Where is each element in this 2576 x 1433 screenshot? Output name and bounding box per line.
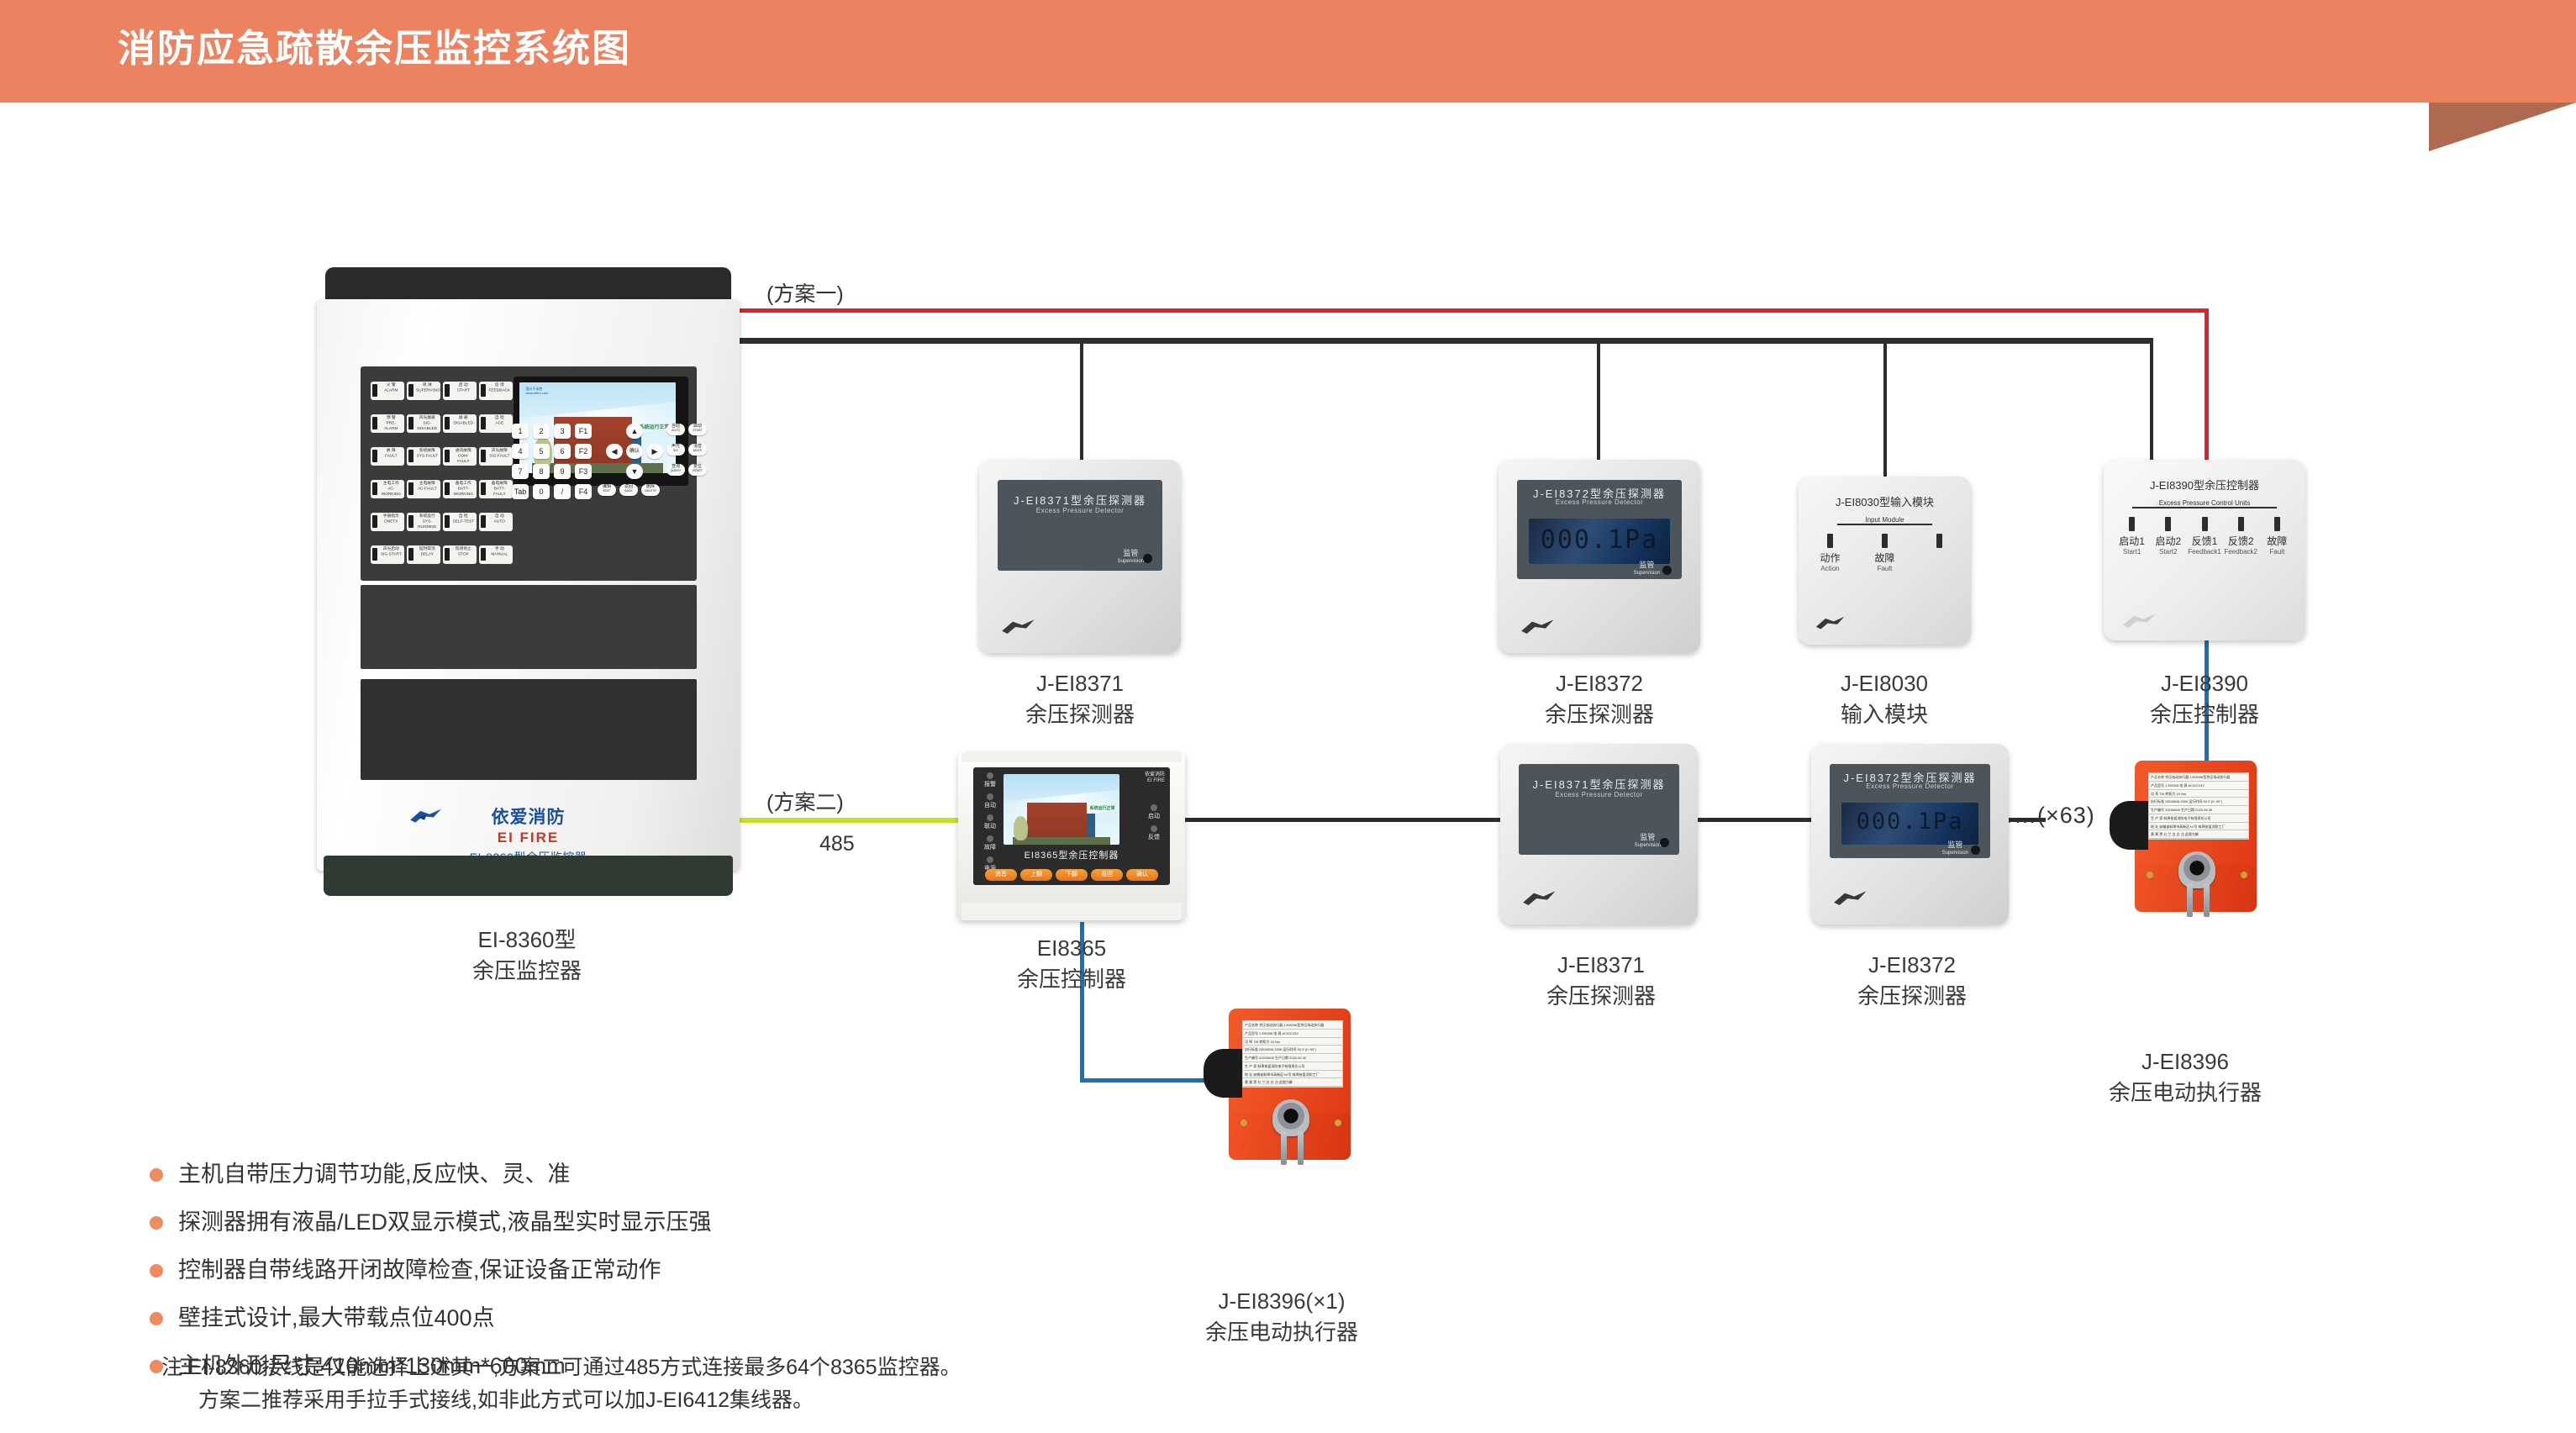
indicator-lamp-label: 启 动START (452, 382, 475, 393)
supervision-led-icon (1143, 554, 1152, 563)
controller-screen[interactable]: 系统运行正常 (1004, 774, 1119, 845)
spec-label-row: 地 址 安徽省蚌埠市高新区XX号 蚌埠依爱消防工厂 (2149, 823, 2248, 831)
led-bar-icon (1827, 534, 1833, 548)
key-5[interactable]: 5 (533, 444, 550, 459)
indicator-lamp-label: 系统故障SYS-FAULT (416, 448, 439, 459)
status-led-反馈: 反馈 (1141, 825, 1167, 841)
controller-faceplate: 报警自动联动故障电源 启动反馈 系统运行正常 依爱消防 EI FIRE EI83… (973, 767, 1170, 885)
device-ei8365-controller[interactable]: 报警自动联动故障电源 启动反馈 系统运行正常 依爱消防 EI FIRE EI83… (958, 752, 1185, 920)
caption-name: 余压控制器 (2070, 699, 2339, 730)
key-2[interactable]: 2 (533, 424, 550, 439)
indicator-lamp: 延时取消DELAY (407, 545, 440, 564)
caption-model: J-EI8371 (1557, 952, 1645, 977)
device-faceplate: J-EI8390型余压控制器 Excess Pressure Control U… (2114, 473, 2295, 608)
actuator-prong (2187, 883, 2193, 917)
led-indicator: 启动1Start1 (2114, 517, 2150, 556)
indicator-lamp: 自 动AUTO (479, 513, 513, 531)
led-row: 动作Action故障Fault (1809, 534, 1961, 573)
supervision-led-icon (1660, 838, 1669, 847)
indicator-lamp: 喷 淋SUPERVISION (407, 382, 440, 400)
led-label-en: Action (1809, 564, 1852, 573)
func-key-mute[interactable]: 消音MUTE (688, 444, 707, 456)
spec-label-row: 功 率 7W 转矩力 15 Nm (1243, 1038, 1342, 1046)
indicator-lamp-label: 声光启动SIG-START (380, 546, 403, 557)
led-label: 报警 (978, 780, 1002, 788)
led-indicator: 反馈1Feedback1 (2186, 517, 2222, 556)
plan-two-label: (方案二) (766, 786, 844, 816)
device-det-8372-top[interactable]: J-EI8372型余压探测器 Excess Pressure Detector … (1499, 460, 1700, 653)
indicator-lamp: 屏 蔽DISABLED (443, 414, 477, 433)
spec-label-row: 产品名称 余压电动执行器 J-EI8396型余压电动执行器 (1243, 1021, 1342, 1030)
banner-fold-triangle (2429, 103, 2576, 151)
wire-plan2-green-485 (738, 818, 965, 823)
actuator-spec-label: 产品名称 余压电动执行器 J-EI8396型余压电动执行器产品型号 J-EI83… (1242, 1020, 1343, 1088)
supervision-led-icon (1662, 566, 1672, 575)
func-key-reset[interactable]: 复位RESET (688, 464, 707, 476)
main-cabinet-ei8360[interactable]: 火 警ALARM喷 淋SUPERVISION启 动START反 馈FEEDBAC… (317, 267, 740, 898)
actuator-prong (1281, 1131, 1287, 1165)
ei-logo-icon (1831, 888, 1872, 909)
device-faceplate: J-EI8030型输入模块 Input Module 动作Action故障Fau… (1809, 490, 1961, 616)
caption-det-8371-bottom: J-EI8371 余压探测器 (1467, 950, 1736, 1012)
banner-tail (2481, 0, 2576, 103)
device-subtitle: Excess Pressure Detector (1830, 782, 1990, 790)
status-leds-right: 启动反馈 (1141, 804, 1167, 846)
func-key-auto[interactable]: 自动AUTO (666, 424, 685, 435)
led-bar-icon (2238, 517, 2244, 531)
device-title: J-EI8371型余压探测器 (1519, 776, 1679, 792)
device-title: J-EI8030型输入模块 (1809, 493, 1961, 509)
controller-button-row[interactable]: 消音上翻下翻返回确认 (985, 869, 1158, 881)
indicator-lamp-label: 火 警ALARM (380, 382, 403, 393)
nav-down-key[interactable]: ▼ (626, 464, 643, 479)
bus-485-label: 485 (819, 832, 855, 856)
device-input-module-8030[interactable]: J-EI8030型输入模块 Input Module 动作Action故障Fau… (1799, 477, 1971, 645)
spec-label-row: 产品名称 余压电动执行器 J-EI8396型余压电动执行器 (2149, 773, 2248, 782)
wire-drop-input-module (1883, 341, 1887, 477)
indicator-lamp-label: 屏 蔽DISABLED (452, 415, 475, 426)
key-tab[interactable]: Tab (512, 484, 529, 499)
actuator-prong (1298, 1131, 1304, 1165)
spec-label-row: 地 址 安徽省蚌埠市高新区XX号 蚌埠依爱消防工厂 (1243, 1071, 1342, 1079)
spec-label-row: 执行标准 GB16806-2006 运行时间 50 S (0~90°) (2149, 798, 2248, 806)
spec-label-row: 生产编号 20200606 生产日期 2020.06.30 (1243, 1054, 1342, 1062)
feature-bullet: 主机自带压力调节功能,反应快、灵、准 (143, 1160, 1151, 1188)
key-/[interactable]: / (554, 484, 571, 499)
caption-actuator-right: J-EI8396 余压电动执行器 (2063, 1046, 2307, 1109)
caption-model: J-EI8372 (1556, 671, 1643, 696)
spec-label-row: 黄 黄 黑 红 兰 白 白 注:此图为解 (1243, 1078, 1342, 1087)
feature-bullet: 壁挂式设计,最大带载点位400点 (143, 1304, 1151, 1332)
indicator-lamp-label: 自 动AUTO (488, 514, 511, 524)
brand-name-cn: 依爱消防 (317, 803, 740, 829)
caption-det-8372-bottom: J-EI8372 余压探测器 (1778, 950, 2047, 1012)
indicator-lamp-grid: 火 警ALARM喷 淋SUPERVISION启 动START反 馈FEEDBAC… (371, 377, 515, 572)
caption-ei8365: EI8365 余压控制器 (946, 933, 1198, 995)
caption-name: 余压探测器 (946, 699, 1214, 730)
status-leds-left: 报警自动联动故障电源 (978, 772, 1002, 877)
spec-label-row: 生 产 家 蚌埠依爱消防电子有限责任公司 (1243, 1062, 1342, 1071)
keypad[interactable]: 123F1456F2789F3Tab0/F4▲◀确认▶▼自动AUTO启动STAR… (512, 424, 646, 504)
wire-plan1-red-horizontal (738, 308, 2209, 313)
supervision-led-icon (1971, 846, 1980, 855)
indicator-lamp-label: 主电工作AC-WORKING (380, 481, 403, 498)
nav-up-key[interactable]: ▲ (626, 424, 643, 439)
cabinet-foot (324, 856, 733, 896)
indicator-lamp: 预 警PRE-ALARM (371, 414, 404, 433)
device-subtitle: Excess Pressure Detector (1517, 498, 1682, 506)
led-dot-icon (1151, 804, 1157, 811)
edit-key-delete[interactable]: 删除DELETE (641, 484, 660, 496)
indicator-lamp-label: 声光故障SIG-FAULT (488, 448, 511, 459)
ei-logo-icon (1520, 888, 1561, 909)
key-f1[interactable]: F1 (575, 424, 592, 439)
wire-drop-det8372-top (1597, 341, 1600, 460)
wire-bus-top-horizontal (733, 338, 2153, 344)
indicator-lamp: 备电工作BATT-WORKING (443, 480, 477, 498)
device-faceplate: J-EI8372型余压探测器 Excess Pressure Detector … (1517, 480, 1682, 579)
led-label-cn: 反馈2 (2223, 535, 2259, 547)
led-label-en: Start1 (2114, 547, 2150, 556)
actuator-spec-label: 产品名称 余压电动执行器 J-EI8396型余压电动执行器产品型号 J-EI83… (2148, 772, 2249, 840)
device-title: J-EI8390型余压控制器 (2114, 477, 2295, 493)
indicator-lamp: 自 检SELF-TEST (443, 513, 477, 531)
led-indicator: 故障Fault (1863, 534, 1906, 573)
wire-blue-ei8365-actuator-horizontal (1080, 1078, 1223, 1083)
mount-ear-bottom (961, 904, 1182, 920)
key-8[interactable]: 8 (533, 464, 550, 479)
func-key-query[interactable]: 查询QUERY (666, 464, 685, 476)
ei-logo-icon (999, 616, 1040, 638)
key-3[interactable]: 3 (554, 424, 571, 439)
indicator-lamp: 自 检ACE (479, 414, 513, 433)
controller-button-下翻[interactable]: 下翻 (1056, 869, 1088, 881)
cabinet-body: 火 警ALARM喷 淋SUPERVISION启 动START反 馈FEEDBAC… (317, 299, 740, 871)
key-7[interactable]: 7 (512, 464, 529, 479)
screen-ground (1013, 837, 1110, 845)
led-label: 自动 (978, 801, 1002, 809)
controller-button-消音[interactable]: 消音 (985, 869, 1017, 881)
spec-label-row: 黄 黄 黑 红 兰 白 白 注:此图为解 (2149, 830, 2248, 839)
led-label: 联动 (978, 822, 1002, 830)
ei-fire-logo-icon (408, 805, 446, 827)
led-bar-icon (1882, 534, 1888, 548)
cabinet-door[interactable] (361, 679, 697, 780)
actuator-coupler (1272, 1099, 1309, 1136)
wire-drop-det8371-top (1080, 341, 1083, 460)
brand-name-cn: 依爱消防 (1145, 772, 1165, 778)
screen-tree (1014, 816, 1028, 840)
device-controller-8390[interactable]: J-EI8390型余压控制器 Excess Pressure Control U… (2104, 460, 2305, 640)
indicator-lamp: 手 动MANUAL (479, 545, 513, 564)
device-subtitle: Excess Pressure Detector (1519, 791, 1679, 798)
led-label-en: Start2 (2150, 547, 2186, 556)
screw-icon (1241, 1120, 1247, 1126)
indicator-lamp-label: 预 警PRE-ALARM (380, 415, 403, 432)
led-label-cn: 反馈1 (2186, 535, 2222, 547)
status-led-报警: 报警 (978, 772, 1002, 788)
spec-label-row: 执行标准 GB16806-2006 运行时间 50 S (0~90°) (1243, 1046, 1342, 1054)
led-indicator: 故障Fault (2259, 517, 2295, 556)
led-indicator (1918, 534, 1961, 573)
screw-icon (2241, 872, 2247, 878)
indicator-lamp-label: 反 馈FEEDBACK (488, 382, 511, 393)
caption-model: J-EI8371 (1036, 671, 1124, 696)
indicator-lamp: 通讯故障COM-FAULT (443, 447, 477, 466)
caption-det-8371-top: J-EI8371 余压探测器 (946, 668, 1214, 730)
device-actuator-right[interactable]: 产品名称 余压电动执行器 J-EI8396型余压电动执行器产品型号 J-EI83… (2110, 761, 2257, 912)
indicator-lamp: 系统运行SYS-RUNNING (407, 513, 440, 531)
nav-right-key[interactable]: ▶ (646, 444, 663, 459)
led-dot-icon (987, 835, 993, 842)
footnote-line-2: 方案二推荐采用手拉手式接线,如非此方式可以加J-EI6412集线器。 (161, 1384, 961, 1417)
controller-model-text: EI8365型余压控制器 (973, 848, 1170, 861)
led-label: 启动 (1141, 812, 1167, 820)
caption-name: 输入模块 (1750, 699, 2019, 730)
supervision-label: 监管 Supervision (1635, 833, 1661, 850)
brand-name-en: EI FIRE (1145, 778, 1165, 784)
actuator-coupler (2178, 851, 2215, 888)
indicator-lamp-label: 系统运行SYS-RUNNING (416, 514, 439, 530)
indicator-lamp: 主电工作AC-WORKING (371, 480, 404, 498)
led-label-cn: 启动2 (2150, 535, 2186, 547)
led-bar-icon (2165, 517, 2171, 531)
indicator-lamp-label: 自 检ACE (488, 415, 511, 426)
func-key-sig[interactable]: 声光SIG (666, 444, 685, 456)
indicator-lamp: 声光屏蔽SIG-DISABLED (407, 414, 440, 433)
led-bar-icon (2202, 517, 2208, 531)
spec-label-row: 产品型号 J-EI8396 电 源 AC/DC24V (1243, 1030, 1342, 1038)
key-f2[interactable]: F2 (575, 444, 592, 459)
status-led-启动: 启动 (1141, 804, 1167, 820)
indicator-lamp-label: 现场停止STOP (452, 546, 475, 557)
led-label-cn: 动作 (1809, 552, 1852, 564)
led-bar-icon (2129, 517, 2135, 531)
screen-status-text: 系统运行正常 (1089, 805, 1114, 811)
indicator-lamp: 声光启动SIG-START (371, 545, 404, 564)
title-rule (1837, 524, 1932, 525)
spec-label-row: 生产编号 20200606 生产日期 2020.06.30 (2149, 806, 2248, 814)
device-subtitle: Input Module (1809, 516, 1961, 524)
caption-actuator-lower: J-EI8396(×1) 余压电动执行器 (1160, 1286, 1404, 1348)
controller-button-确认[interactable]: 确认 (1126, 869, 1158, 881)
indicator-lamp: 备电故障BATT-FAULT (479, 480, 513, 498)
key-9[interactable]: 9 (554, 464, 571, 479)
indicator-lamp-label: 备电工作BATT-WORKING (452, 481, 475, 498)
device-det-8371-bottom[interactable]: J-EI8371型余压探测器 Excess Pressure Detector … (1500, 744, 1698, 925)
led-label-en: Feedback1 (2186, 547, 2222, 556)
led-bar-icon (2274, 517, 2280, 531)
controller-button-上翻[interactable]: 上翻 (1020, 869, 1052, 881)
indicator-lamp-label: 主电故障AC-FAULT (416, 481, 439, 492)
led-label-en: Feedback2 (2223, 547, 2259, 556)
wire-drop-controller8390 (2150, 341, 2153, 460)
caption-name: 余压探测器 (1778, 981, 2047, 1012)
status-led-联动: 联动 (978, 814, 1002, 830)
title-rule (2132, 507, 2277, 508)
led-label-en: Fault (1863, 564, 1906, 573)
page-title: 消防应急疏散余压监控系统图 (118, 24, 631, 74)
caption-controller-8390: J-EI8390 余压控制器 (2070, 668, 2339, 730)
header-banner: 消防应急疏散余压监控系统图 (0, 0, 2481, 103)
device-det-8372-bottom[interactable]: J-EI8372型余压探测器 Excess Pressure Detector … (1811, 744, 2009, 925)
caption-det-8372-top: J-EI8372 余压探测器 (1465, 668, 1734, 730)
lcd-pressure-value: 000.1Pa (1529, 525, 1670, 555)
key-1[interactable]: 1 (512, 424, 529, 439)
status-led-自动: 自动 (978, 793, 1002, 809)
led-dot-icon (987, 772, 993, 779)
nav-left-key[interactable]: ◀ (606, 444, 623, 459)
feature-bullet: 探测器拥有液晶/LED双显示模式,液晶型实时显示压强 (143, 1208, 1151, 1236)
led-label-en: Fault (2259, 547, 2295, 556)
led-row: 启动1Start1启动2Start2反馈1Feedback1反馈2Feedbac… (2114, 517, 2295, 556)
indicator-lamp: 手册指示ONETX (371, 513, 404, 531)
indicator-lamp-label: 备电故障BATT-FAULT (488, 481, 511, 498)
wire-plan1-red-vertical (2205, 308, 2209, 460)
actuator-shaft-collar (2110, 801, 2148, 850)
footnote-line-1: 注:EI-8360接线是仅能选择上述其一,方案二可通过485方式连接最多64个8… (161, 1356, 961, 1379)
indicator-lamp: 启 动START (443, 382, 477, 400)
led-indicator: 反馈2Feedback2 (2223, 517, 2259, 556)
controller-branding: 依爱消防 EI FIRE (1145, 772, 1165, 784)
indicator-lamp-label: 声光屏蔽SIG-DISABLED (416, 415, 439, 432)
indicator-lamp: 主电故障AC-FAULT (407, 480, 440, 498)
ei-logo-icon (2120, 610, 2161, 632)
led-label-cn: 启动1 (2114, 535, 2150, 547)
nav-enter-key[interactable]: 确认 (626, 444, 643, 459)
led-label: 反馈 (1141, 833, 1167, 841)
footnote: 注:EI-8360接线是仅能选择上述其一,方案二可通过485方式连接最多64个8… (161, 1351, 961, 1417)
indicator-lamp: 火 警ALARM (371, 382, 404, 400)
caption-model: EI8365 (1037, 935, 1106, 961)
edit-key-edit[interactable]: 编辑EDIT (598, 484, 616, 496)
led-indicator: 动作Action (1809, 534, 1852, 573)
indicator-lamp-label: 延时取消DELAY (416, 546, 439, 557)
indicator-lamp-label: 手册指示ONETX (380, 514, 403, 524)
caption-name: 余压探测器 (1465, 699, 1734, 730)
caption-model: J-EI8396 (2141, 1049, 2229, 1074)
ei-logo-icon (1814, 614, 1849, 633)
led-indicator: 启动2Start2 (2150, 517, 2186, 556)
actuator-shaft-collar (1204, 1049, 1242, 1098)
caption-name: 余压控制器 (946, 964, 1198, 995)
controller-button-返回[interactable]: 返回 (1091, 869, 1123, 881)
led-label-cn: 故障 (2259, 535, 2295, 547)
brand-name-en: EI FIRE (317, 830, 740, 846)
indicator-lamp-label: 喷 淋SUPERVISION (416, 382, 439, 393)
lcd-display: 000.1Pa (1841, 803, 1978, 845)
device-subtitle: Excess Pressure Detector (998, 507, 1162, 514)
screw-icon (2147, 872, 2153, 878)
edit-key-back[interactable]: 返回BACK (619, 484, 638, 496)
indicator-lamp-label: 故 障FAULT (380, 448, 403, 459)
device-det-8371-top[interactable]: J-EI8371型余压探测器 Excess Pressure Detector … (979, 460, 1181, 653)
led-dot-icon (987, 793, 993, 800)
cabinet-lower-bezel (361, 585, 697, 669)
device-actuator-lower[interactable]: 产品名称 余压电动执行器 J-EI8396型余压电动执行器产品型号 J-EI83… (1204, 1009, 1351, 1160)
led-dot-icon (1151, 825, 1157, 832)
indicator-lamp-label: 自 检SELF-TEST (452, 514, 475, 524)
led-bar-icon (1936, 534, 1942, 548)
spec-label-row: 产品型号 J-EI8396 电 源 AC/DC24V (2149, 782, 2248, 790)
key-4[interactable]: 4 (512, 444, 529, 459)
caption-model: J-EI8390 (2161, 671, 2248, 696)
caption-model: J-EI8396(×1) (1218, 1288, 1345, 1314)
indicator-lamp: 反 馈FEEDBACK (479, 382, 513, 400)
caption-input-module: J-EI8030 输入模块 (1750, 668, 2019, 730)
indicator-lamp-label: 手 动MANUAL (488, 546, 511, 557)
caption-name: 余压探测器 (1467, 981, 1736, 1012)
led-label-cn: 故障 (1863, 552, 1906, 564)
screw-icon (1335, 1120, 1341, 1126)
device-title: J-EI8371型余压探测器 (998, 492, 1162, 508)
caption-name: 余压监控器 (359, 956, 695, 987)
supervision-label: 监管 Supervision (1942, 840, 1968, 857)
indicator-lamp: 系统故障SYS-FAULT (407, 447, 440, 466)
key-f3[interactable]: F3 (575, 464, 592, 479)
lcd-pressure-value: 000.1Pa (1841, 809, 1978, 835)
supervision-label: 监管 Supervision (1634, 561, 1660, 577)
ei-logo-icon (1519, 616, 1559, 638)
key-0[interactable]: 0 (533, 484, 550, 499)
lcd-display: 000.1Pa (1529, 519, 1670, 564)
caption-main-cabinet: EI-8360型 余压监控器 (359, 925, 695, 987)
supervision-label: 监管 Supervision (1118, 549, 1144, 566)
caption-name: 余压电动执行器 (1160, 1317, 1404, 1348)
caption-model: J-EI8372 (1868, 952, 1956, 977)
key-f4[interactable]: F4 (575, 484, 592, 499)
spec-label-row: 功 率 7W 转矩力 15 Nm (2149, 790, 2248, 798)
spec-label-row: 生 产 家 蚌埠依爱消防电子有限责任公司 (2149, 814, 2248, 823)
indicator-lamp: 声光故障SIG-FAULT (479, 447, 513, 466)
indicator-lamp: 现场停止STOP (443, 545, 477, 564)
device-faceplate: J-EI8371型余压探测器 Excess Pressure Detector … (1519, 764, 1679, 855)
actuator-prong (2204, 883, 2210, 917)
plan-one-label: (方案一) (766, 277, 844, 308)
device-faceplate: J-EI8372型余压探测器 Excess Pressure Detector … (1830, 764, 1990, 858)
key-6[interactable]: 6 (554, 444, 571, 459)
indicator-lamp-label: 通讯故障COM-FAULT (452, 448, 475, 465)
caption-name: 余压电动执行器 (2063, 1077, 2307, 1109)
feature-bullet: 控制器自带线路开闭故障检查,保证设备正常动作 (143, 1256, 1151, 1284)
func-key-start[interactable]: 启动START (688, 424, 707, 435)
device-faceplate: J-EI8371型余压探测器 Excess Pressure Detector … (998, 480, 1162, 571)
screen-brand-text: 国火于永胜 www.eifire.com (525, 387, 548, 395)
led-dot-icon (987, 814, 993, 821)
device-subtitle: Excess Pressure Control Units (2114, 499, 2295, 507)
indicator-lamp: 故 障FAULT (371, 447, 404, 466)
mount-ear-top (961, 752, 1182, 762)
caption-model: J-EI8030 (1841, 671, 1928, 696)
caption-model: EI-8360型 (477, 927, 576, 952)
